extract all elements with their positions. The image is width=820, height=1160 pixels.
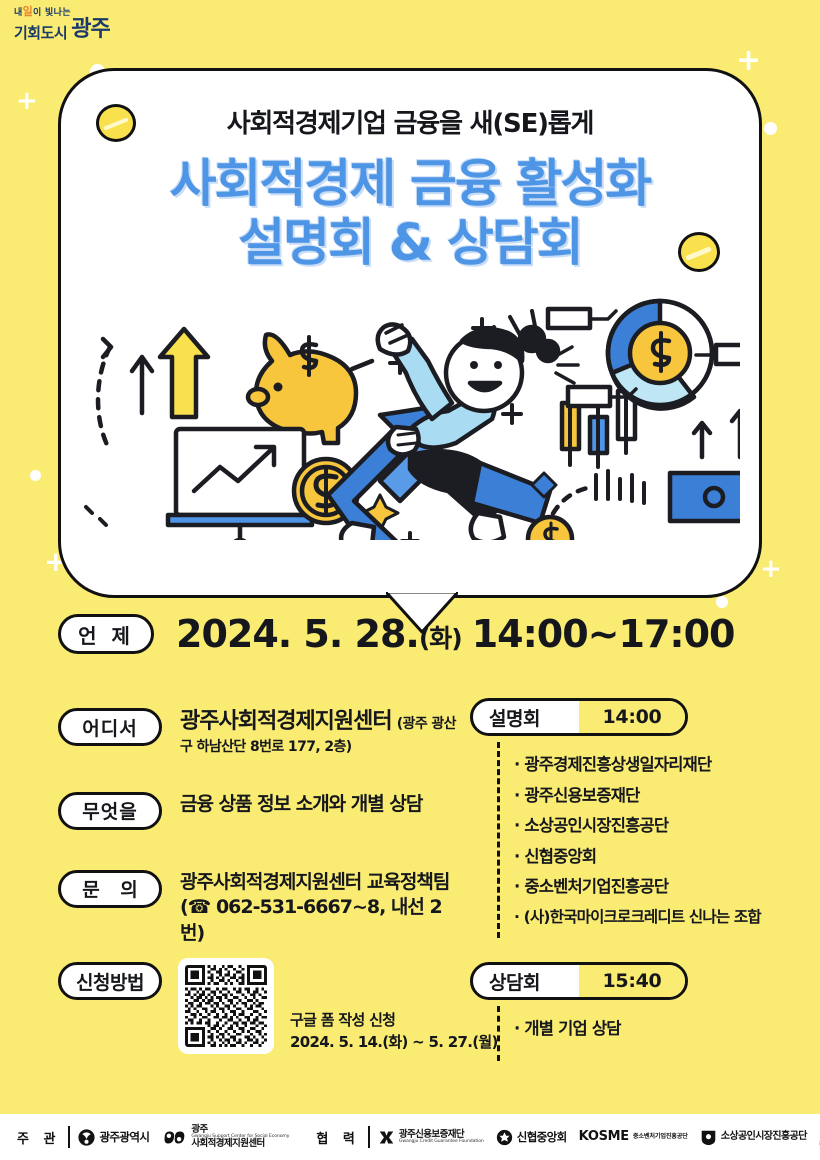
hero-title-line-1: 사회적경제 금융 활성화 <box>0 155 820 214</box>
footer-divider <box>68 1126 70 1148</box>
footer-host-logos: 광주광역시 광주 Gwangju Support Center for Soci… <box>78 1125 289 1150</box>
what-body: 금융 상품 정보 소개와 개별 상담 <box>180 790 422 818</box>
program-section-consultation: 상담회 15:40 · 개별 기업 상담 <box>470 962 790 1061</box>
footer-logo-gwangju-city: 광주광역시 <box>78 1129 149 1146</box>
briefing-item-list: · 광주경제진흥상생일자리재단 · 광주신용보증재단 · 소상공인시장진흥공단 … <box>497 742 790 938</box>
consultation-pill: 상담회 15:40 <box>470 962 688 1000</box>
up-arrow-icon <box>160 329 208 417</box>
hero-kicker: 사회적경제기업 금융을 새(SE)롭게 <box>0 103 820 140</box>
where-body: 광주사회적경제지원센터 (광주 광산구 하남산단 8번로 177, 2층) <box>180 706 458 756</box>
where-venue: 광주사회적경제지원센터 <box>180 709 392 734</box>
event-date: 2024. 5. 28. <box>176 612 419 656</box>
where-label-pill: 어디서 <box>58 708 162 746</box>
contact-label-pill: 문 의 <box>58 870 162 908</box>
info-row-contact: 문 의 광주사회적경제지원센터 교육정책팀 (☎ 062-531-6667~8,… <box>58 868 458 947</box>
decor-plus-icon: + <box>760 556 782 582</box>
list-item: · 중소벤처기업진흥공단 <box>514 872 790 903</box>
footer-bar: 주 관 광주광역시 광주 Gwangju Support Center for … <box>0 1114 820 1160</box>
laptop-chart-icon <box>168 429 312 540</box>
when-label-pill: 언 제 <box>58 614 154 654</box>
footer-divider <box>368 1126 370 1148</box>
what-label-pill: 무엇을 <box>58 792 162 830</box>
social-economy-center-mark <box>161 1129 187 1146</box>
consultation-time: 15:40 <box>579 965 685 997</box>
info-row-what: 무엇을 금융 상품 정보 소개와 개별 상담 <box>58 790 458 830</box>
logo-tagline-post: 이 빛나는 <box>33 8 71 18</box>
footer-logo-kosme-label: KOSME <box>579 1130 629 1144</box>
logo-name-main: 광주 <box>71 20 109 41</box>
apply-caption: 구글 폼 작성 신청 2024. 5. 14.(화) ~ 5. 27.(월) <box>290 1010 498 1054</box>
footer-logo-shinhyup: 신협중앙회 <box>496 1129 567 1146</box>
list-item: · 광주신용보증재단 <box>514 781 790 812</box>
decor-dot-icon <box>716 596 728 608</box>
logo-tagline-pre: 내 <box>14 8 23 18</box>
event-time: 14:00~17:00 <box>472 612 735 656</box>
logo-tagline-accent: 일 <box>23 5 33 18</box>
up-arrow-small-icon <box>132 357 152 413</box>
decor-plus-icon: + <box>736 46 761 76</box>
footer-logo-semas: 소상공인시장진흥공단 <box>700 1129 807 1146</box>
donut-chart-icon <box>548 301 740 409</box>
semas-mark <box>700 1129 717 1146</box>
footer-logo-gwangju-city-label: 광주광역시 <box>99 1131 149 1143</box>
list-item: · 광주경제진흥상생일자리재단 <box>514 750 790 781</box>
info-row-where: 어디서 광주사회적경제지원센터 (광주 광산구 하남산단 8번로 177, 2층… <box>58 706 458 756</box>
event-date-text: 2024. 5. 28.(화)14:00~17:00 <box>176 612 734 656</box>
gwangju-city-mark <box>78 1129 95 1146</box>
contact-team: 광주사회적경제지원센터 교육정책팀 <box>180 871 449 893</box>
briefing-time: 14:00 <box>579 701 685 733</box>
footer-logo-shinhyup-label: 신협중앙회 <box>517 1131 567 1143</box>
person-riding-arrow-icon <box>328 311 578 540</box>
footer-logo-gwangju-credit-guarantee: 광주신용보증재단 Gwangju Credit Guarantee Founda… <box>378 1129 484 1146</box>
sec-label-main: 사회적경제지원센터 <box>191 1138 264 1149</box>
logo-name-prefix: 기회도시 <box>14 26 67 41</box>
apply-label-pill: 신청방법 <box>58 962 162 1000</box>
logo-name: 기회도시 광주 <box>14 20 164 41</box>
briefing-pill: 설명회 14:00 <box>470 698 688 736</box>
sec-label-top: 광주 <box>191 1124 207 1135</box>
banknote-icon <box>670 411 740 521</box>
apply-caption-line-1: 구글 폼 작성 신청 <box>290 1011 395 1029</box>
footer-logo-social-economy-center: 광주 Gwangju Support Center for Social Eco… <box>161 1125 289 1150</box>
decor-dot-icon <box>30 470 41 481</box>
footer-partner-logos: 광주신용보증재단 Gwangju Credit Guarantee Founda… <box>378 1127 820 1148</box>
list-item: · 개별 기업 상담 <box>514 1014 790 1045</box>
gwangju-city-logo: 내일이 빛나는 기회도시 광주 <box>14 6 164 41</box>
program-section-briefing: 설명회 14:00 · 광주경제진흥상생일자리재단 · 광주신용보증재단 · 소… <box>470 698 790 938</box>
finance-illustration <box>80 295 740 540</box>
google-form-qr-code[interactable] <box>178 958 274 1054</box>
dashed-curve-icon <box>98 347 110 451</box>
list-item: · 소상공인시장진흥공단 <box>514 811 790 842</box>
footer-logo-social-economy-center-label: 광주 Gwangju Support Center for Social Eco… <box>191 1125 289 1150</box>
hero-title-line-2: 설명회 & 상담회 <box>0 214 820 273</box>
footer-logo-gcg-label: 광주신용보증재단 Gwangju Credit Guarantee Founda… <box>399 1130 484 1145</box>
poster-root: { "colors": { "background": "#FAEC72", "… <box>0 0 820 1160</box>
footer-logo-semas-label: 소상공인시장진흥공단 <box>721 1132 807 1143</box>
consultation-name: 상담회 <box>473 968 579 995</box>
gwangju-credit-guarantee-mark <box>378 1129 395 1146</box>
event-info-list: 어디서 광주사회적경제지원센터 (광주 광산구 하남산단 8번로 177, 2층… <box>58 706 458 968</box>
apply-block: 신청방법 <box>58 958 498 1054</box>
hero-title: 사회적경제 금융 활성화 설명회 & 상담회 <box>0 155 820 273</box>
shinhyup-mark <box>496 1129 513 1146</box>
apply-caption-line-2: 2024. 5. 14.(화) ~ 5. 27.(월) <box>290 1033 498 1051</box>
briefing-name: 설명회 <box>473 704 579 731</box>
footer-host-label: 주 관 <box>12 1128 60 1147</box>
contact-body: 광주사회적경제지원센터 교육정책팀 (☎ 062-531-6667~8, 내선 … <box>180 868 458 947</box>
gcg-label-sub: Gwangju Credit Guarantee Foundation <box>399 1140 484 1145</box>
footer-logo-kosme-sub: 중소벤처기업진흥공단 <box>633 1134 688 1141</box>
what-description: 금융 상품 정보 소개와 개별 상담 <box>180 793 422 815</box>
footer-logo-kosme: KOSME 중소벤처기업진흥공단 <box>579 1130 688 1144</box>
event-weekday: (화) <box>419 624 462 653</box>
event-date-row: 언 제 2024. 5. 28.(화)14:00~17:00 <box>58 612 734 656</box>
gcg-label-main: 광주신용보증재단 <box>399 1129 464 1140</box>
list-item: · (사)한국마이크로크레디트 신나는 조합 <box>514 903 790 933</box>
consultation-item-list: · 개별 기업 상담 <box>497 1006 790 1061</box>
list-item: · 신협중앙회 <box>514 842 790 873</box>
footer-partner-label: 협 력 <box>311 1128 359 1147</box>
contact-phone: (☎ 062-531-6667~8, 내선 2번) <box>180 896 442 944</box>
